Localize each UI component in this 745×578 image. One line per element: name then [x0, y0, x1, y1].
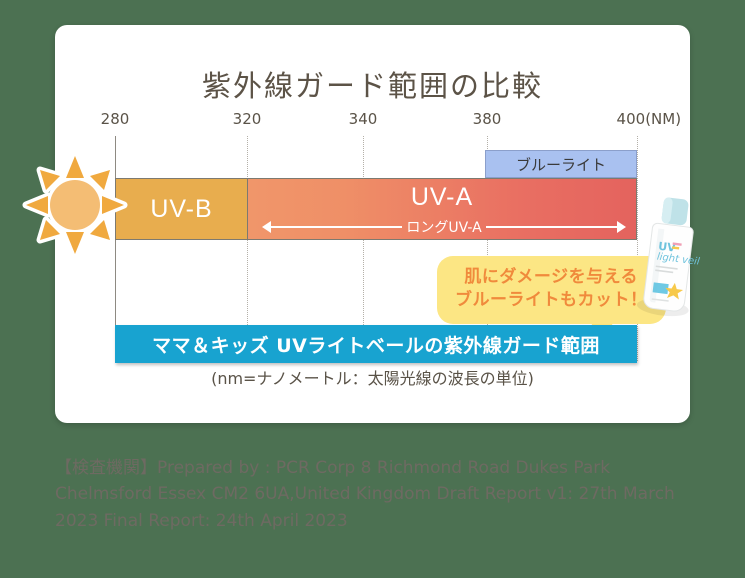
x-tick-label-320: 320	[233, 110, 262, 128]
callout-line-2: ブルーライトもカット！	[455, 289, 648, 312]
callout-line-1: 肌にダメージを与える	[455, 266, 648, 289]
band-blue-light-label: ブルーライト	[516, 154, 606, 175]
arrow-left-head-icon	[262, 221, 271, 233]
x-tick-label-380: 380	[473, 110, 502, 128]
band-uvb: UV-B	[115, 178, 248, 240]
arrow-shaft-left	[271, 226, 402, 228]
guard-range-label: ママ＆キッズ UVライトベールの紫外線ガード範囲	[152, 331, 600, 358]
chart-title: 紫外線ガード範囲の比較	[55, 63, 690, 105]
x-axis-labels: 280 320 340 380 400(NM)	[115, 110, 697, 132]
x-tick-label-280: 280	[101, 110, 130, 128]
unit-note: (nm=ナノメートル：太陽光線の波長の単位)	[55, 365, 690, 389]
x-tick-label-340: 340	[349, 110, 378, 128]
footer-text: 【検査機関】Prepared by : PCR Corp 8 Richmond …	[55, 455, 705, 534]
band-uva-label: UV-A	[248, 183, 636, 212]
chart-card: 紫外線ガード範囲の比較 280 320 340 380 400(NM) ブルーラ…	[55, 25, 690, 423]
band-uva: UV-A ロングUV-A	[248, 178, 637, 240]
guard-range-bar: ママ＆キッズ UVライトベールの紫外線ガード範囲	[115, 325, 637, 363]
band-blue-light: ブルーライト	[485, 150, 637, 178]
sun-icon	[22, 152, 128, 258]
long-uva-arrow: ロングUV-A	[262, 217, 626, 237]
long-uva-label: ロングUV-A	[402, 217, 485, 237]
chart-plot-area: 280 320 340 380 400(NM) ブルーライト UV-B UV-A…	[115, 110, 697, 360]
x-tick-label-400: 400(NM)	[617, 110, 682, 128]
band-uvb-label: UV-B	[150, 195, 212, 224]
arrow-shaft-right	[486, 226, 617, 228]
arrow-right-head-icon	[617, 221, 626, 233]
